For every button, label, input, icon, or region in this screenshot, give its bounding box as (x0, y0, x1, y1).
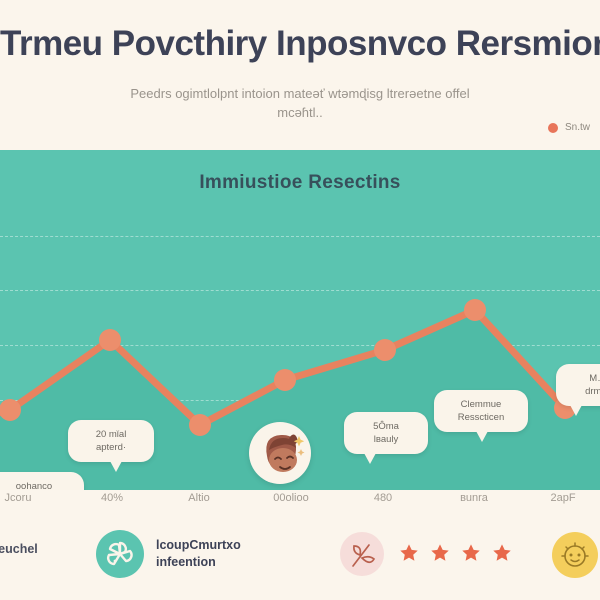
chart-panel[interactable]: Immiustioe Resectins oohanco veartien 20… (0, 150, 600, 490)
x-tick: ʙunra (460, 492, 488, 504)
callout-bubble-6[interactable]: M… drm… (556, 364, 600, 406)
x-tick: 00olioo (273, 492, 308, 504)
data-point (274, 369, 296, 391)
footer: feuchel lcoupCmurtxo infeention (0, 520, 600, 600)
star-icon (460, 542, 482, 564)
data-point (374, 339, 396, 361)
footer-left-label: feuchel (0, 542, 38, 556)
star-icon (491, 542, 513, 564)
footer-badge[interactable] (96, 530, 144, 578)
legend-dot-icon (548, 123, 558, 133)
x-tick: Altio (188, 492, 209, 504)
data-point (0, 399, 21, 421)
callout-bubble-5[interactable]: Clemmue Resscticen (434, 390, 528, 432)
data-point (189, 414, 211, 436)
star-icon (398, 542, 420, 564)
pinwheel-icon (105, 539, 135, 569)
sun-face-icon (558, 538, 592, 572)
legend-label: Sn.tw (565, 122, 590, 133)
leaf-branch-icon (347, 539, 377, 569)
page-subtitle: Peedrs ogimtlolpnt intoion mateǝť wtǝmɖi… (120, 84, 480, 122)
callout-bubble-2[interactable]: 20 mǐal apterd· (68, 420, 154, 462)
sun-chip[interactable] (552, 532, 598, 578)
avatar-face-icon (249, 422, 311, 484)
callout-bubble-4[interactable]: 5Ôma lʙauly (344, 412, 428, 454)
leaf-chip[interactable] (340, 532, 384, 576)
callout-avatar[interactable] (249, 422, 311, 484)
x-tick: 2apF (550, 492, 575, 504)
page-root: Trmeu Povcthiry Inposnvco Rersmiony Peed… (0, 0, 600, 600)
page-title: Trmeu Povcthiry Inposnvco Rersmiony (0, 24, 600, 64)
callout-bubble-1[interactable]: oohanco veartien (0, 472, 84, 490)
data-point (99, 329, 121, 351)
data-point (464, 299, 486, 321)
x-tick: Jcoru (5, 492, 32, 504)
legend[interactable]: Sn.tw (548, 122, 590, 133)
x-axis: Jcoru 40% Altio 00olioo 480 ʙunra 2apF (0, 492, 600, 514)
x-tick: 480 (374, 492, 392, 504)
header: Trmeu Povcthiry Inposnvco Rersmiony Peed… (0, 0, 600, 150)
star-rating[interactable] (398, 542, 513, 564)
x-tick: 40% (101, 492, 123, 504)
footer-badge-label: lcoupCmurtxo infeention (156, 537, 241, 571)
star-icon (429, 542, 451, 564)
